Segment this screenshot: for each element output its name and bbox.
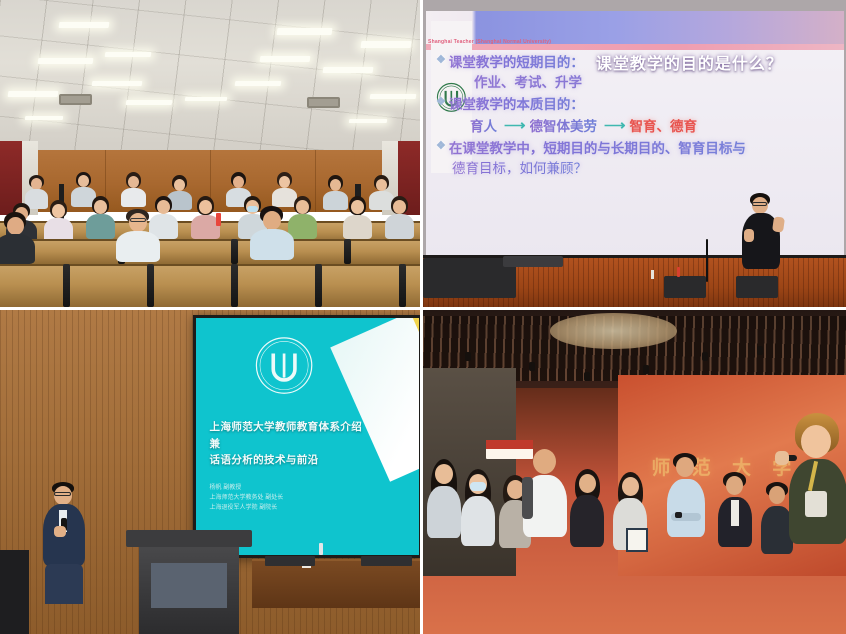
affiliation-line: 杨帆 副教授 [210,484,415,494]
seat-row [0,239,420,264]
ceiling-lamp [348,119,386,123]
slide-title-underline [426,44,845,49]
bullet-row: ❖ 在课堂教学中，短期目的与长期目的、智育目标与 [436,139,838,158]
panel-exhibition-guided-tour: 师 范 大 学 [423,310,846,634]
spotlight-icon [465,352,471,361]
ceiling-vent [59,94,93,105]
face-mask [247,206,258,212]
affiliation-line: 上海退役军人学院 副院长 [210,504,415,514]
ceiling-lamp [105,52,152,57]
ceiling-medallion [550,313,677,349]
affiliation-line: 上海师范大学教务处 副处长 [210,494,415,504]
ceiling-lamp [185,97,228,101]
nameplate [265,556,315,566]
lectern [423,258,516,298]
bullet-subtext: 作业、考试、升学 [436,73,838,92]
question-line-2: 德育目标，如何兼顾？ [452,161,587,176]
ceiling-lamp [323,67,374,73]
slide-body: ❖ 课堂教学的短期目的： 作业、考试、升学 ❖ 课堂教学的本质目的： 育人 ⟶ … [436,53,838,179]
bullet-row: ❖ 课堂教学的本质目的： [436,95,838,114]
paper-cup [651,270,654,279]
projection-screen: 上海师范大学教师教育体系介绍 兼 话语分析的技术与前沿 杨帆 副教授 上海师范大… [193,315,420,558]
arrow-right-icon: ⟶ [504,116,523,134]
ceiling-lamp [277,28,333,35]
chain-last: 智育、德育 [630,115,698,135]
spotlight-icon [643,365,649,374]
podium-panel [151,563,227,608]
panel-lecture-slide-teaching-aims: Shanghai Teacher (Shanghai Normal Univer… [423,0,846,307]
ceiling-lamp [8,91,59,97]
desk-monitor [503,256,562,267]
slide-title-line-3: 话语分析的技术与前沿 [210,452,411,467]
backpack-strap [522,477,533,519]
diamond-bullet-icon: ❖ [436,95,446,108]
diamond-bullet-icon: ❖ [436,139,446,152]
shirt-collar [731,500,739,526]
ceiling [0,0,420,157]
av-equipment [664,276,706,297]
panel-title-slide-presentation: 上海师范大学教师教育体系介绍 兼 话语分析的技术与前沿 杨帆 副教授 上海师范大… [0,310,420,634]
bullet-text: 课堂教学的短期目的： [449,53,584,72]
ceiling-lamp [235,81,282,86]
water-bottle [319,543,323,555]
eyeglasses [54,492,71,496]
ceiling-lamp [58,22,109,28]
hand [744,229,754,242]
spotlight-icon [584,372,590,381]
ceiling-vent [307,97,341,108]
chain-middle: 德智体美劳 [530,115,598,135]
eyeglasses [130,218,146,222]
spotlight-icon [529,362,535,371]
presenter-affiliation: 杨帆 副教授 上海师范大学教务处 副处长 上海退役军人学院 副院长 [210,484,415,514]
podium-top [126,530,252,546]
chain-first: 育人 [470,115,497,135]
university-logo [254,330,314,401]
snu-emblem-icon [254,330,314,401]
water-bottle [216,213,221,226]
spotlight-icon [702,352,708,361]
hand [54,526,66,537]
ceiling-lamp [361,41,412,48]
microphone-stand [706,239,708,282]
panel-lecture-hall-audience [0,0,420,307]
legs [45,564,83,604]
spotlight-icon [757,346,763,355]
eyeglasses [752,202,767,206]
slide-title-line-2: 兼 [210,436,221,451]
bullet-row: 德育目标，如何兼顾？ [436,159,838,178]
slide-title-line-1: 上海师范大学教师教育体系介绍 [210,419,411,434]
guide-badge [805,491,827,517]
ceiling-lamp [25,116,63,120]
ceiling-lamp [126,100,173,105]
bullet-row: ❖ 课堂教学的短期目的： [436,53,838,72]
arrow-right-icon: ⟶ [604,116,623,134]
teaching-aim-chain: 育人 ⟶ 德智体美劳 ⟶ 智育、德育 [436,115,838,135]
ceiling-lamp [260,56,311,62]
exhibit-placard [486,440,533,459]
ceiling-lamp [92,81,143,86]
hand [775,451,789,465]
face-mask [470,482,486,491]
bullet-text: 课堂教学的本质目的： [449,95,584,114]
water-bottle [677,267,680,277]
speaker-box [0,550,29,634]
ceiling-lamp [37,58,92,64]
nameplate [361,556,411,566]
question-line-1: 在课堂教学中，短期目的与长期目的、智育目标与 [449,139,746,158]
logo-english-text: Shanghai Teacher (Shanghai Normal Univer… [428,39,545,45]
photo-collage: Shanghai Teacher (Shanghai Normal Univer… [0,0,846,634]
diamond-bullet-icon: ❖ [436,53,446,66]
wristwatch [675,512,682,518]
conference-table [252,559,420,608]
clipboard [626,528,648,552]
av-equipment [736,276,778,297]
ceiling-lamp [369,94,416,99]
